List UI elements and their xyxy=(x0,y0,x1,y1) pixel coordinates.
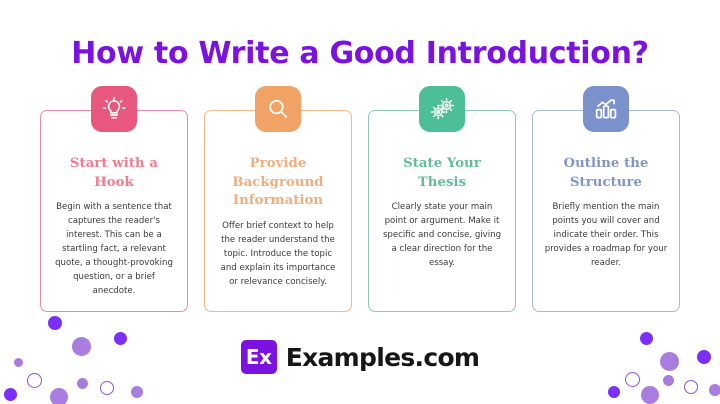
gears-icon xyxy=(419,86,465,132)
step-card-body: Offer brief context to help the reader u… xyxy=(214,220,342,290)
decorative-circle xyxy=(100,381,114,395)
brand-logo[interactable]: Ex Examples.com xyxy=(0,340,720,374)
logo-mark: Ex xyxy=(241,340,277,374)
step-card-body: Briefly mention the main points you will… xyxy=(542,201,670,271)
step-card-title: Outline the Structure xyxy=(542,155,670,192)
step-card-title: Provide Background Information xyxy=(214,155,342,211)
decorative-circle xyxy=(77,378,88,389)
lightbulb-icon xyxy=(91,86,137,132)
bar-chart-icon xyxy=(583,86,629,132)
decorative-circle xyxy=(663,375,674,386)
logo-wordmark: Examples.com xyxy=(286,343,480,372)
step-card-1: Start with a Hook Begin with a sentence … xyxy=(40,110,188,312)
decorative-circle xyxy=(48,316,62,330)
decorative-circle xyxy=(625,372,640,387)
step-card-2: Provide Background Information Offer bri… xyxy=(204,110,352,312)
decorative-circle xyxy=(27,373,42,388)
step-card-title: State Your Thesis xyxy=(378,155,506,192)
decorative-circle xyxy=(684,380,698,394)
decorative-circle xyxy=(641,386,659,404)
search-icon xyxy=(255,86,301,132)
step-card-title: Start with a Hook xyxy=(50,155,178,192)
decorative-circle xyxy=(50,388,68,404)
step-card-4: Outline the Structure Briefly mention th… xyxy=(532,110,680,312)
page-title: How to Write a Good Introduction? xyxy=(0,36,720,71)
decorative-circle xyxy=(709,384,720,396)
decorative-circle xyxy=(608,386,620,398)
steps-card-row: Start with a Hook Begin with a sentence … xyxy=(40,110,680,312)
decorative-circle xyxy=(4,388,17,401)
step-card-body: Clearly state your main point or argumen… xyxy=(378,201,506,271)
step-card-3: State Your Thesis Clearly state your mai… xyxy=(368,110,516,312)
step-card-body: Begin with a sentence that captures the … xyxy=(50,201,178,298)
infographic-canvas: How to Write a Good Introduction? Start … xyxy=(0,0,720,404)
decorative-circle xyxy=(131,386,143,398)
